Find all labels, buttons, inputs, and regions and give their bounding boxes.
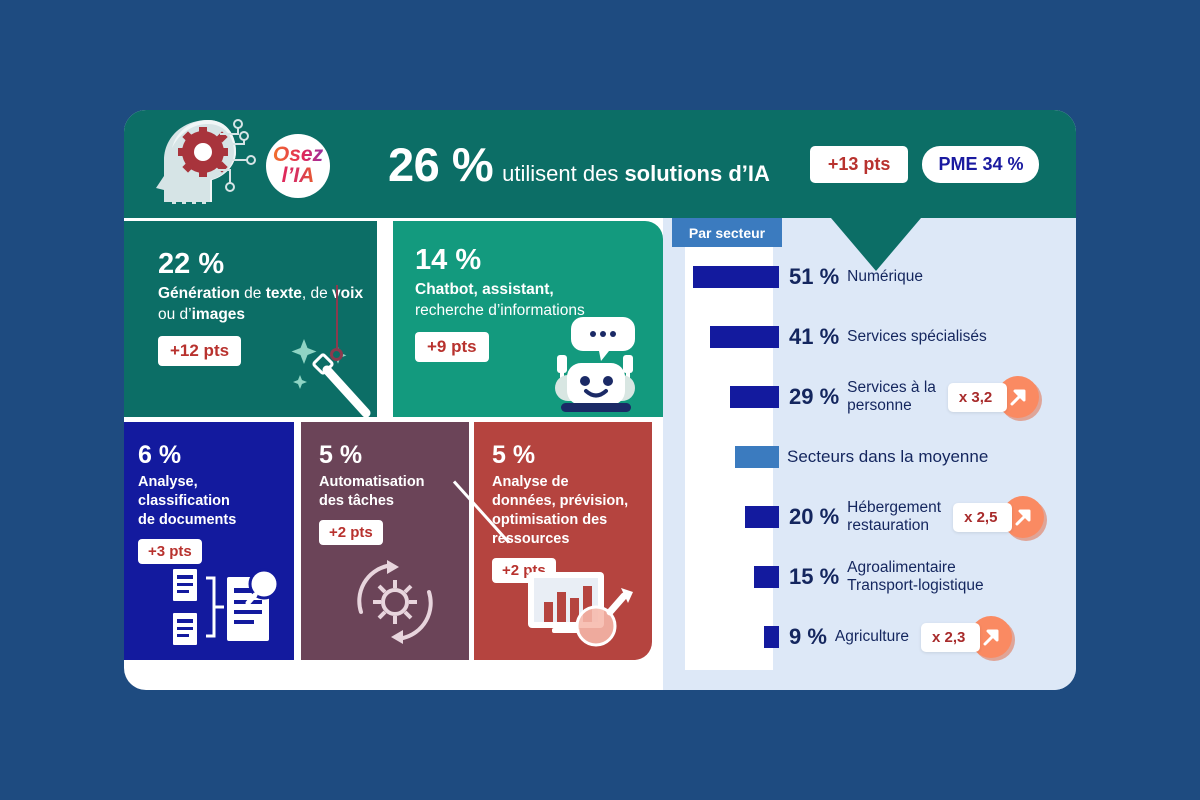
tile-analyse-documents: 6 % Analyse,classificationde documents +… (124, 422, 294, 660)
main-stat-text: utilisent des solutions d’IA (502, 161, 770, 187)
sector-bar-cell (663, 547, 779, 607)
headline: 26 % utilisent des solutions d’IA (388, 137, 770, 192)
tile-points-badge: +2 pts (319, 520, 383, 545)
badge-pme: PME 34 % (922, 146, 1039, 183)
tile-points-badge: +3 pts (138, 539, 202, 564)
multiplier-pill: x 3,2 (948, 383, 1007, 412)
sector-bar-cell (663, 307, 779, 367)
logo-line-2: l’IA (282, 166, 315, 187)
tile-percent: 14 % (415, 245, 663, 277)
usage-tiles: 22 % Génération de texte, de voix ou d’i… (124, 221, 663, 660)
sector-row: 41 %Services spécialisés (663, 307, 1076, 367)
sector-bar (730, 386, 779, 408)
sector-label: Agriculture (835, 628, 909, 646)
tile-percent: 5 % (492, 442, 652, 470)
sector-bar (710, 326, 779, 348)
tile-percent: 5 % (319, 442, 469, 470)
tile-analyse-donnees: 5 % Analyse dedonnées, prévision,optimis… (474, 422, 652, 660)
sector-row: 51 %Numérique (663, 247, 1076, 307)
sector-multiplier: x 2,5 (953, 496, 1044, 538)
sector-multiplier: x 2,3 (921, 616, 1012, 658)
tile-points-badge: +9 pts (415, 332, 489, 362)
header-banner: Osez l’IA 26 % utilisent des solutions d… (124, 110, 1076, 218)
magic-wand-icon (286, 333, 372, 417)
sector-row: 9 %Agriculturex 2,3 (663, 607, 1076, 667)
tile-description: Génération de texte, de voix ou d’images (158, 284, 377, 325)
infographic-card: Osez l’IA 26 % utilisent des solutions d… (124, 110, 1076, 690)
gear-cycle-icon (343, 550, 447, 654)
tiles-row-top: 22 % Génération de texte, de voix ou d’i… (124, 221, 663, 417)
tile-generation: 22 % Génération de texte, de voix ou d’i… (124, 221, 377, 417)
sector-value: 41 % (789, 324, 839, 350)
main-stat-value: 26 % (388, 137, 493, 192)
tiles-row-bottom: 6 % Analyse,classificationde documents +… (124, 417, 663, 660)
sector-value: 9 % (789, 624, 827, 650)
sector-bar-cell (663, 487, 779, 547)
sector-value: 29 % (789, 384, 839, 410)
multiplier-pill: x 2,5 (953, 503, 1012, 532)
ai-head-icon (150, 114, 270, 214)
logo-line-1: Osez (273, 145, 323, 166)
logo-area: Osez l’IA (124, 110, 352, 218)
documents-search-icon (168, 564, 286, 656)
sector-label: Agroalimentaire Transport-logistique (847, 559, 983, 595)
sector-bar (735, 446, 779, 468)
sector-row: 20 %Hébergement restaurationx 2,5 (663, 487, 1076, 547)
tile-percent: 6 % (138, 442, 294, 470)
sector-rows: 51 %Numérique41 %Services spécialisés29 … (663, 247, 1076, 667)
sector-bar-cell (663, 427, 779, 487)
sector-panel: Par secteur 51 %Numérique41 %Services sp… (663, 218, 1076, 690)
sector-bar-cell (663, 367, 779, 427)
osez-lia-logo: Osez l’IA (266, 134, 330, 198)
tab-par-secteur[interactable]: Par secteur (672, 218, 782, 247)
sector-bar (764, 626, 779, 648)
sector-bar (745, 506, 779, 528)
multiplier-pill: x 2,3 (921, 623, 980, 652)
sector-value: 20 % (789, 504, 839, 530)
sector-value: 51 % (789, 264, 839, 290)
sector-row: Secteurs dans la moyenne (663, 427, 1076, 487)
sector-bar-cell (663, 607, 779, 667)
sector-row: 29 %Services à la personnex 3,2 (663, 367, 1076, 427)
bar-chart-search-icon (524, 568, 640, 650)
sector-label: Numérique (847, 268, 923, 286)
pointer-dot (330, 348, 343, 361)
tile-description: Analyse dedonnées, prévision,optimisatio… (492, 473, 652, 550)
sector-multiplier: x 3,2 (948, 376, 1039, 418)
sector-bar (693, 266, 779, 288)
tile-points-badge: +12 pts (158, 336, 241, 366)
sector-row: 15 %Agroalimentaire Transport-logistique (663, 547, 1076, 607)
tile-percent: 22 % (158, 249, 377, 281)
tile-chatbot: 14 % Chatbot, assistant,recherche d’info… (393, 221, 663, 417)
sector-label: Services spécialisés (847, 328, 987, 346)
sector-label: Hébergement restauration (847, 499, 941, 535)
tile-description: Automatisationdes tâches (319, 473, 469, 511)
sector-value: 15 % (789, 564, 839, 590)
robot-icon (539, 313, 651, 413)
tile-description: Analyse,classificationde documents (138, 473, 294, 530)
sector-label: Services à la personne (847, 379, 936, 415)
sector-bar (754, 566, 779, 588)
sector-label: Secteurs dans la moyenne (787, 447, 988, 467)
tile-automatisation: 5 % Automatisationdes tâches +2 pts (301, 422, 469, 660)
sector-bar-cell (663, 247, 779, 307)
badge-points-evolution: +13 pts (810, 146, 909, 183)
